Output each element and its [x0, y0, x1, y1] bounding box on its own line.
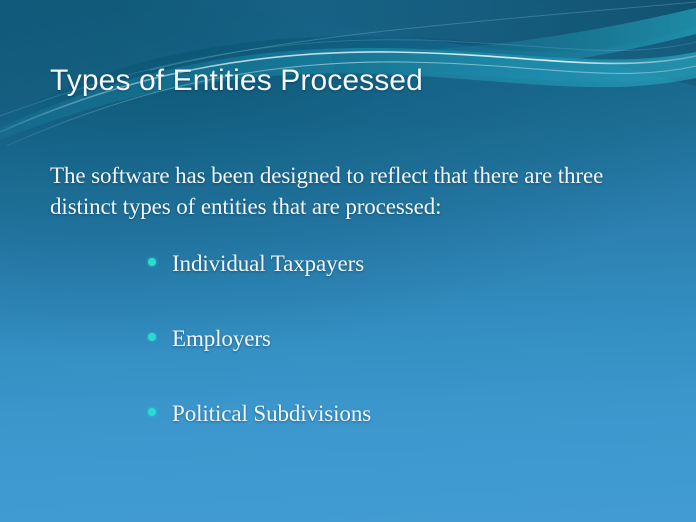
list-item: Individual Taxpayers	[146, 250, 666, 277]
page-title: Types of Entities Processed	[50, 62, 650, 100]
intro-paragraph: The software has been designed to reflec…	[50, 160, 650, 222]
list-item-label: Individual Taxpayers	[172, 250, 666, 277]
bullet-dot-icon	[148, 408, 156, 416]
list-item-label: Political Subdivisions	[172, 400, 666, 427]
presentation-slide: Types of Entities Processed The software…	[0, 0, 696, 522]
list-item: Political Subdivisions	[146, 400, 666, 427]
entity-types-list: Individual Taxpayers Employers Political…	[146, 250, 666, 427]
slide-body: The software has been designed to reflec…	[50, 160, 650, 222]
list-item-label: Employers	[172, 325, 666, 352]
list-item: Employers	[146, 325, 666, 352]
bullet-dot-icon	[148, 258, 156, 266]
bullet-dot-icon	[148, 333, 156, 341]
